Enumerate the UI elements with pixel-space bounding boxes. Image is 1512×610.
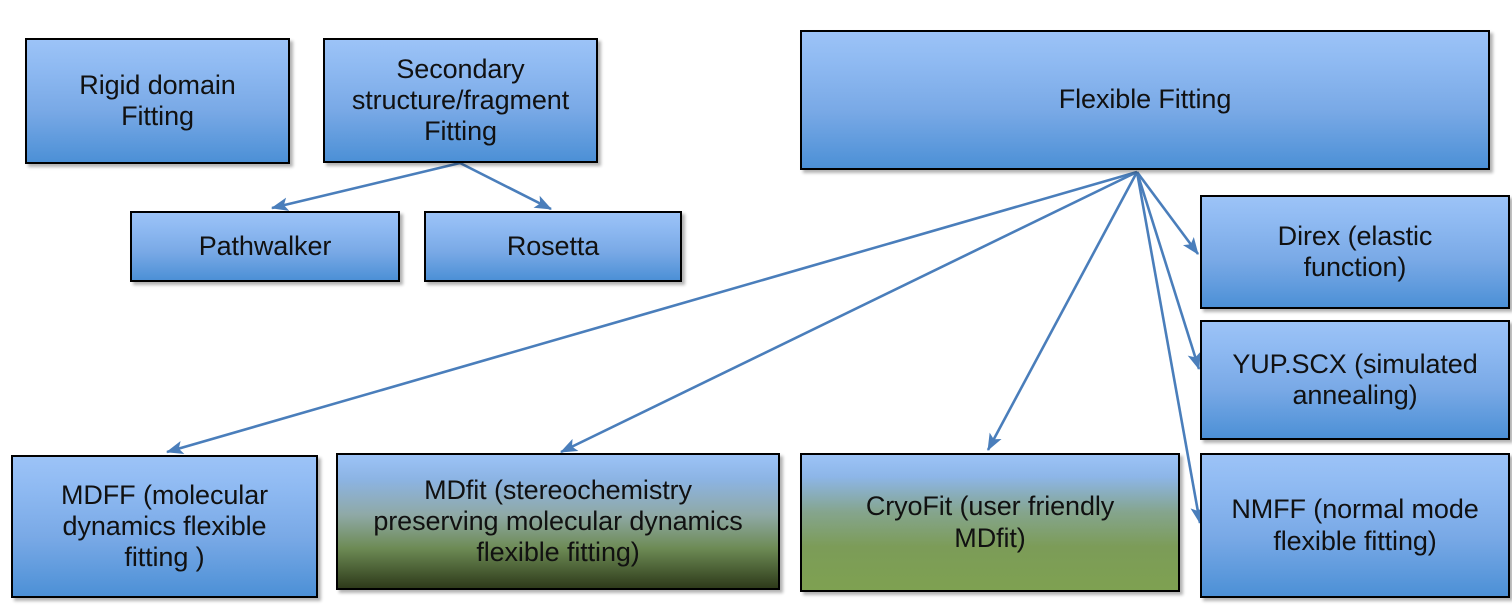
node-direx[interactable]: Direx (elastic function): [1200, 195, 1510, 309]
node-nmff[interactable]: NMFF (normal mode flexible fitting): [1200, 453, 1510, 598]
node-secondary-structure-fragment-fitting[interactable]: Secondary structure/fragment Fitting: [323, 38, 598, 163]
edge-flexible-to-yupscx: [1137, 172, 1199, 369]
node-cryofit[interactable]: CryoFit (user friendly MDfit): [800, 453, 1180, 592]
node-rigid-domain-fitting[interactable]: Rigid domain Fitting: [25, 38, 290, 164]
node-mdff[interactable]: MDFF (molecular dynamics flexible fittin…: [11, 455, 318, 598]
node-yup-scx[interactable]: YUP.SCX (simulated annealing): [1200, 320, 1510, 440]
node-pathwalker[interactable]: Pathwalker: [130, 211, 400, 282]
edge-secondary-to-pathwalker: [272, 163, 460, 208]
node-flexible-fitting[interactable]: Flexible Fitting: [800, 30, 1490, 170]
edge-flexible-to-direx: [1137, 172, 1198, 254]
edge-secondary-to-rosetta: [460, 163, 551, 209]
node-mdfit[interactable]: MDfit (stereochemistry preserving molecu…: [336, 453, 780, 590]
edge-flexible-to-cryofit: [988, 172, 1137, 450]
node-rosetta[interactable]: Rosetta: [424, 211, 682, 282]
diagram-canvas: Rigid domain FittingSecondary structure/…: [0, 0, 1512, 610]
